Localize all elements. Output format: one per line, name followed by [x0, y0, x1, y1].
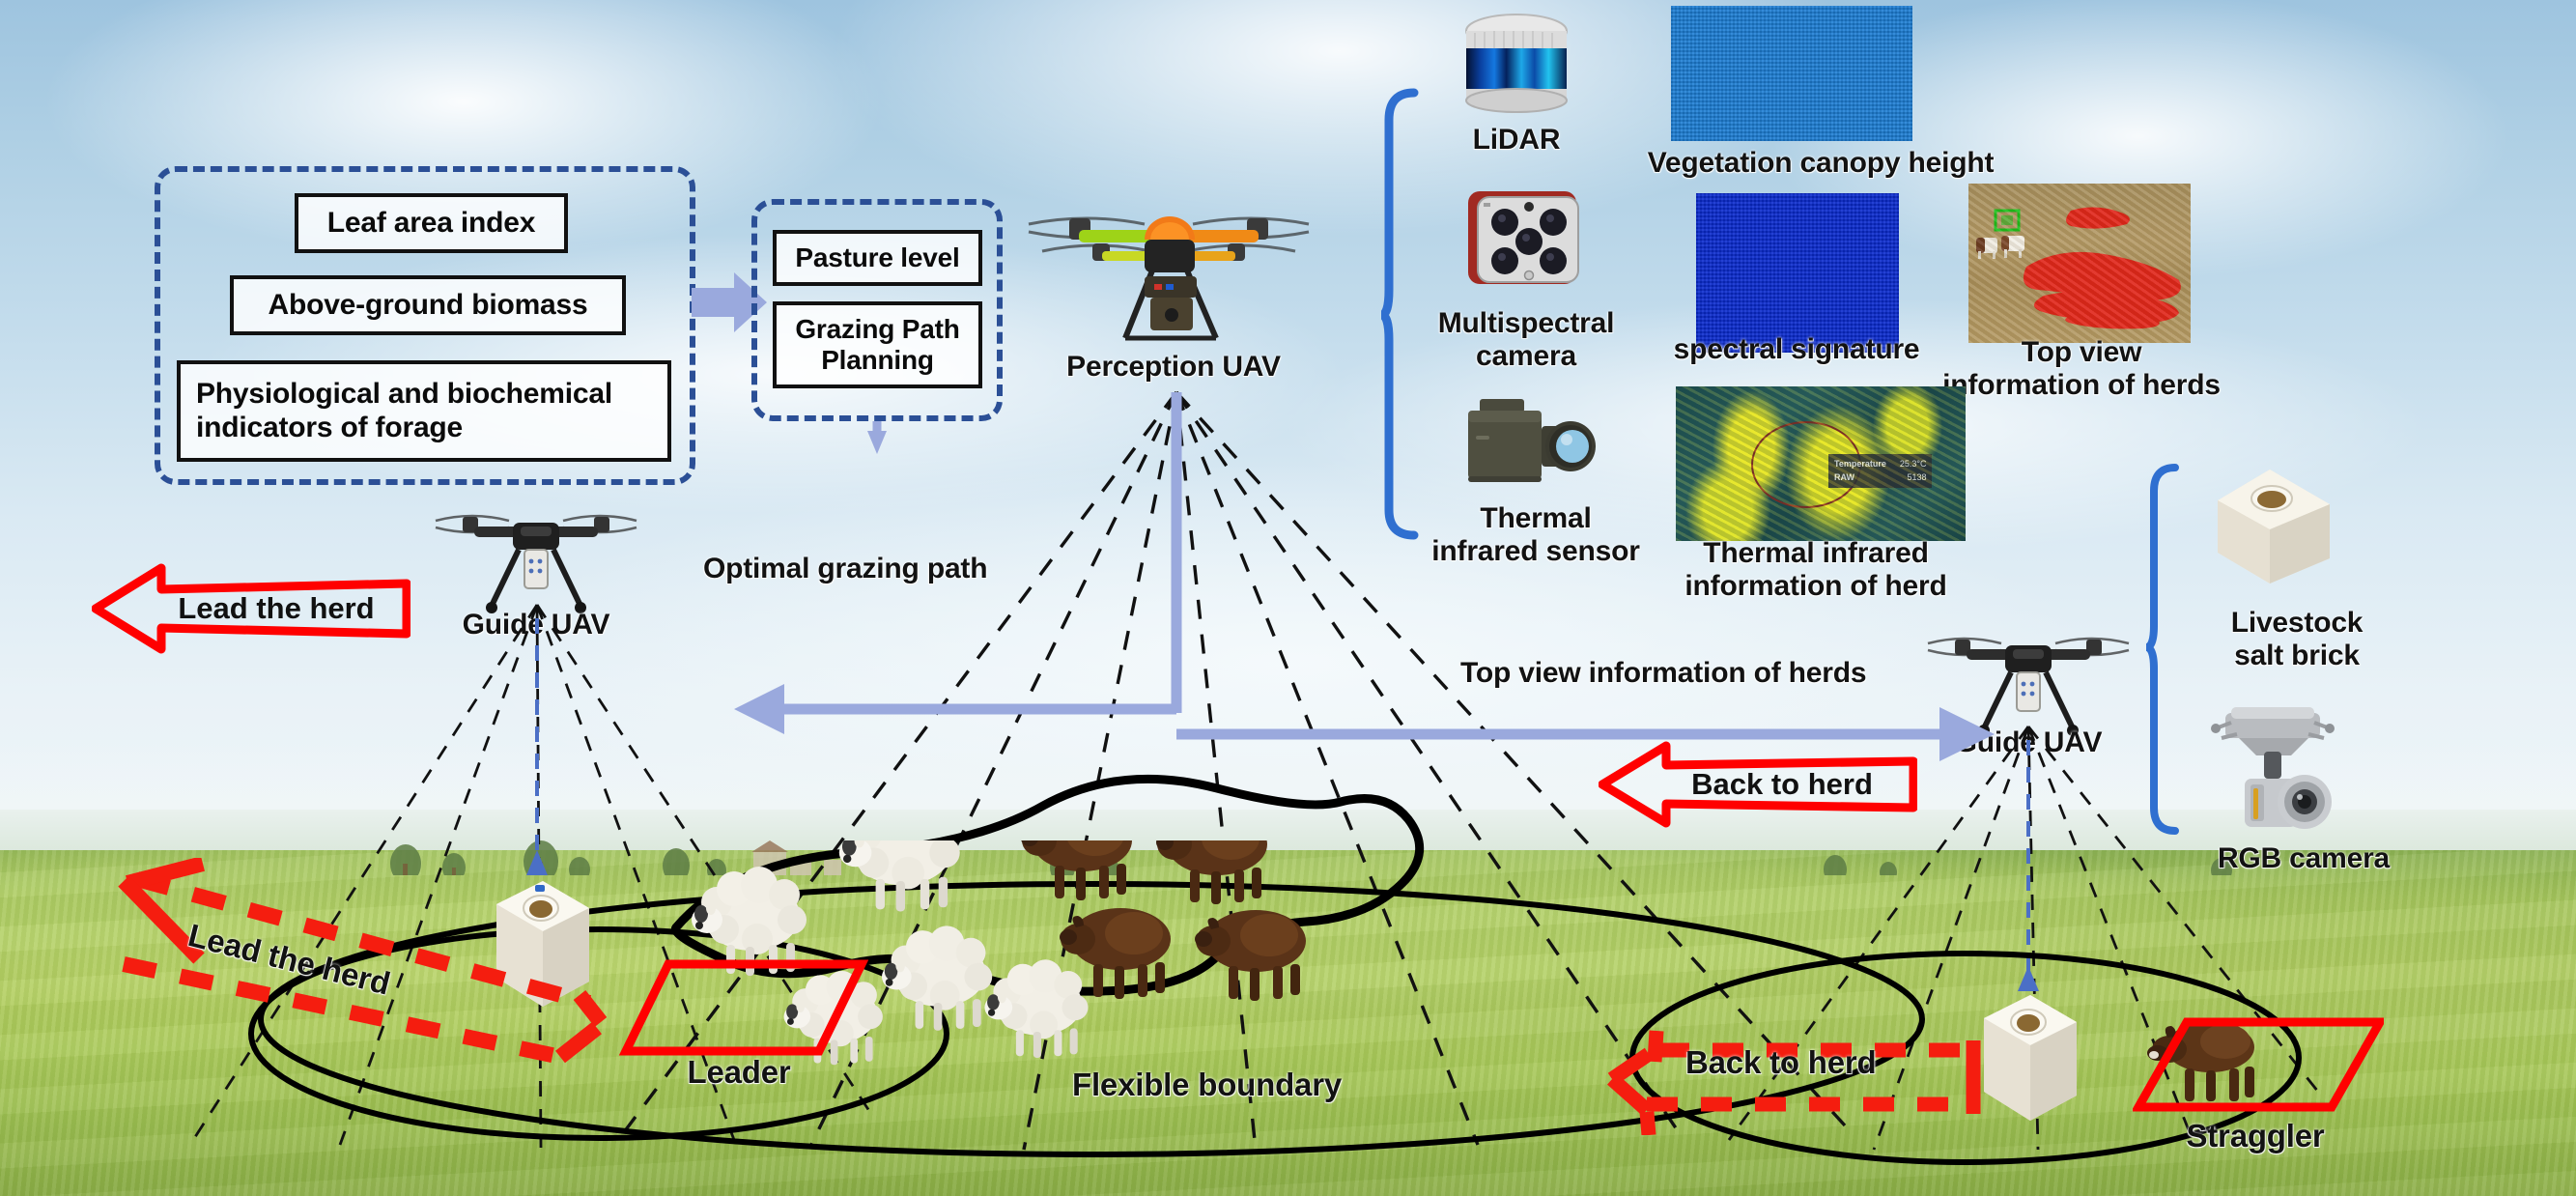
guide-uav-left-icon	[430, 498, 642, 623]
canopy-height-image	[1671, 6, 1912, 141]
indicator-label: Leaf area index	[327, 207, 535, 240]
lidar-icon	[1454, 10, 1579, 114]
leader-label: Leader	[618, 1055, 860, 1091]
spectral-signature-label: spectral signature	[1642, 333, 1951, 366]
back-to-herd-sky-arrow: Back to herd	[1599, 740, 1917, 829]
thermal-osd-row: RAW 5138	[1834, 470, 1926, 484]
thermal-herd-label: Thermal infrared information of herd	[1642, 537, 1990, 602]
canopy-height-label: Vegetation canopy height	[1632, 147, 2009, 180]
indicator-box-above-ground-biomass: Above-ground biomass	[230, 275, 626, 335]
lead-the-herd-sky-label: Lead the herd	[178, 591, 374, 626]
indicator-box-physiological-biochemical: Physiological and biochemical indicators…	[177, 360, 671, 462]
thermal-osd-key: Temperature	[1834, 457, 1886, 470]
top-view-herds-label: Top view information of herds	[1922, 336, 2241, 401]
multispectral-camera-icon	[1460, 184, 1586, 295]
top-view-information-label: Top view information of herds	[1460, 657, 2001, 690]
decision-box-grazing-path-planning: Grazing Path Planning	[773, 301, 982, 388]
rgb-camera-label: RGB camera	[2193, 842, 2415, 875]
guide-uav-left-label: Guide UAV	[425, 609, 647, 641]
flexible-boundary-label: Flexible boundary	[1072, 1068, 1507, 1103]
leader-highlight-box	[618, 956, 869, 1063]
decision-label: Pasture level	[795, 242, 959, 273]
lidar-label: LiDAR	[1434, 124, 1599, 157]
indicator-label: Physiological and biochemical indicators…	[196, 378, 667, 443]
top-view-herds-image	[1968, 184, 2191, 343]
perception-uav-label: Perception UAV	[1038, 351, 1309, 384]
indicator-box-leaf-area-index: Leaf area index	[295, 193, 568, 253]
lead-the-herd-sky-arrow: Lead the herd	[92, 562, 410, 655]
decision-label: Grazing Path Planning	[777, 314, 978, 376]
thermal-osd-row: Temperature 25.3°C	[1834, 457, 1926, 470]
straggler-label: Straggler	[2125, 1119, 2386, 1154]
thermal-infrared-sensor-icon	[1460, 391, 1605, 498]
multispectral-camera-label: Multispectral camera	[1405, 307, 1647, 372]
rgb-camera-icon	[2202, 696, 2357, 840]
straggler-highlight-box	[2133, 1014, 2384, 1121]
thermal-osd-key: RAW	[1834, 470, 1854, 484]
payload-bracket	[2146, 462, 2181, 839]
diagram-canvas: Leaf area index Above-ground biomass Phy…	[0, 0, 2576, 1196]
thermal-osd-value: 5138	[1907, 470, 1926, 484]
thermal-herd-image: Temperature 25.3°C RAW 5138	[1676, 386, 1966, 541]
perception-uav-icon	[1009, 184, 1328, 357]
decision-box-pasture-level: Pasture level	[773, 230, 982, 286]
thermal-osd-readout: Temperature 25.3°C RAW 5138	[1828, 454, 1932, 488]
optimal-grazing-path-label: Optimal grazing path	[703, 553, 1109, 585]
thermal-detection-ellipse	[1751, 421, 1861, 508]
back-to-herd-sky-label: Back to herd	[1691, 767, 1873, 802]
salt-brick-icon	[2210, 462, 2335, 587]
spectral-signature-image	[1696, 193, 1899, 353]
indicator-label: Above-ground biomass	[268, 289, 587, 322]
salt-brick-label: Livestock salt brick	[2191, 607, 2403, 671]
thermal-infrared-sensor-label: Thermal infrared sensor	[1391, 502, 1681, 567]
back-to-herd-ground-label: Back to herd	[1685, 1045, 1995, 1081]
guide-uav-right-label: Guide UAV	[1917, 726, 2139, 759]
thermal-osd-value: 25.3°C	[1900, 457, 1927, 470]
